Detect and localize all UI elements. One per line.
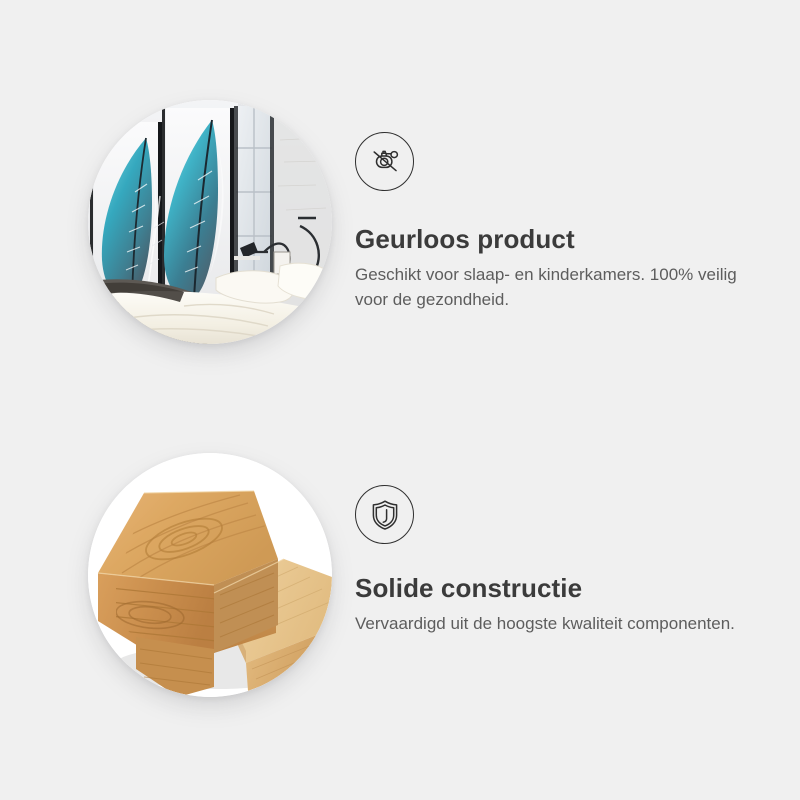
feature-block-odourless: Geurloos product Geschikt voor slaap- en… (0, 100, 800, 344)
feature-description: Geschikt voor slaap- en kinderkamers. 10… (355, 263, 745, 312)
feature-block-solid-construction: Solide constructie Vervaardigd uit de ho… (0, 453, 800, 697)
feature-description: Vervaardigd uit de hoogste kwaliteit com… (355, 612, 745, 637)
feature-text-column: Geurloos product Geschikt voor slaap- en… (355, 100, 800, 312)
shield-icon (355, 485, 414, 544)
bedroom-feather-wall-art-photo (88, 100, 332, 344)
stacked-wooden-beams-photo (88, 453, 332, 697)
feature-list-page: Geurloos product Geschikt voor slaap- en… (0, 0, 800, 800)
feature-media-column (0, 100, 355, 344)
feature-title: Solide constructie (355, 574, 760, 604)
feature-media-column (0, 453, 355, 697)
feature-text-column: Solide constructie Vervaardigd uit de ho… (355, 453, 800, 637)
feature-title: Geurloos product (355, 225, 760, 255)
no-fragrance-icon (355, 132, 414, 191)
